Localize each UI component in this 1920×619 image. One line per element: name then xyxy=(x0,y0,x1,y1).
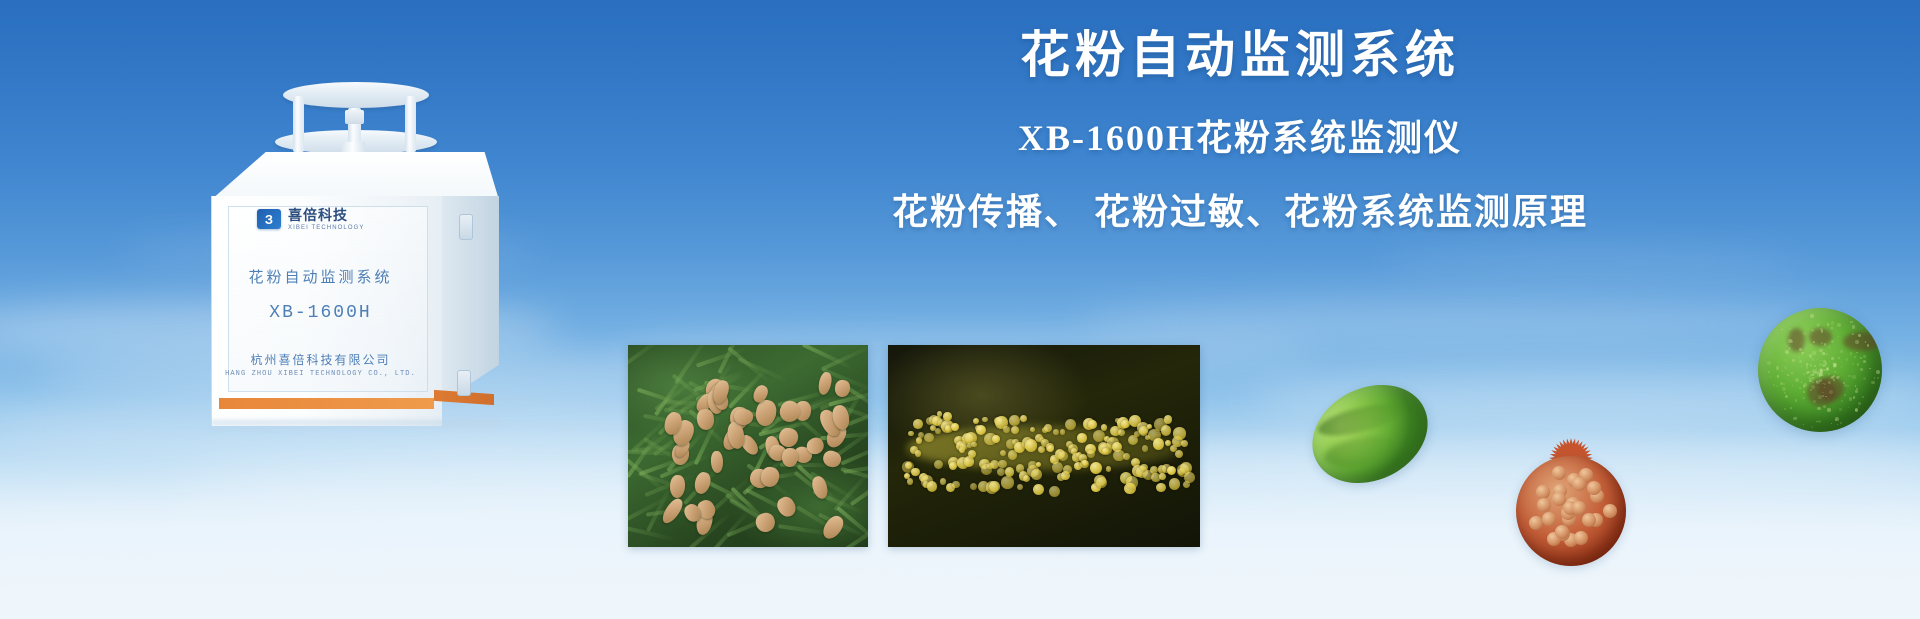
spiky-orange-pollen-grain xyxy=(1498,438,1644,584)
device-latch-lower xyxy=(457,370,471,396)
pollen-monitor-device: З 喜倍科技 XIBEI TECHNOLOGY 花粉自动监测系统 XB-1600… xyxy=(205,80,505,440)
green-oval-pollen-grain xyxy=(1296,366,1444,501)
pollen-monitoring-banner: 花粉自动监测系统 XB-1600H花粉系统监测仪 花粉传播、 花粉过敏、花粉系统… xyxy=(0,0,1920,619)
brand-text: 喜倍科技 XIBEI TECHNOLOGY xyxy=(288,208,365,231)
sampler-post xyxy=(405,96,416,152)
oval-grain-furrow xyxy=(1315,397,1405,441)
device-base-shadow xyxy=(211,420,499,430)
device-latch-upper xyxy=(459,214,473,240)
xibei-logo-icon: З xyxy=(257,209,281,229)
brand-name-cn: 喜倍科技 xyxy=(288,208,365,223)
device-model-number: XB-1600H xyxy=(205,303,436,323)
banner-tagline: 花粉传播、 花粉过敏、花粉系统监测原理 xyxy=(600,183,1880,235)
device-product-name: 花粉自动监测系统 xyxy=(205,266,436,287)
device-orange-stripe xyxy=(219,398,434,409)
sampler-post xyxy=(293,96,304,152)
device-brand-logo: З 喜倍科技 XIBEI TECHNOLOGY xyxy=(257,208,365,231)
oval-grain-body xyxy=(1296,366,1444,501)
banner-headline: 花粉自动监测系统 xyxy=(600,28,1880,83)
cloud-streak xyxy=(1380,250,1800,276)
banner-text-block: 花粉自动监测系统 XB-1600H花粉系统监测仪 花粉传播、 花粉过敏、花粉系统… xyxy=(600,28,1880,235)
green-spherical-pollen-grain xyxy=(1758,308,1882,432)
photo-birch-catkin xyxy=(888,345,1200,547)
photo-cedar-pollen-cones xyxy=(628,345,868,547)
oval-grain-furrow xyxy=(1322,432,1400,472)
sphere-grain-body xyxy=(1758,308,1882,432)
device-company-en: HANG ZHOU XIBEI TECHNOLOGY CO., LTD. xyxy=(205,370,436,378)
sampler-inlet-nub xyxy=(345,110,364,124)
cloud-streak xyxy=(1080,300,1840,344)
device-company-cn: 杭州喜倍科技有限公司 xyxy=(205,351,436,368)
banner-subheadline: XB-1600H花粉系统监测仪 xyxy=(600,109,1880,161)
brand-name-en: XIBEI TECHNOLOGY xyxy=(288,225,365,231)
